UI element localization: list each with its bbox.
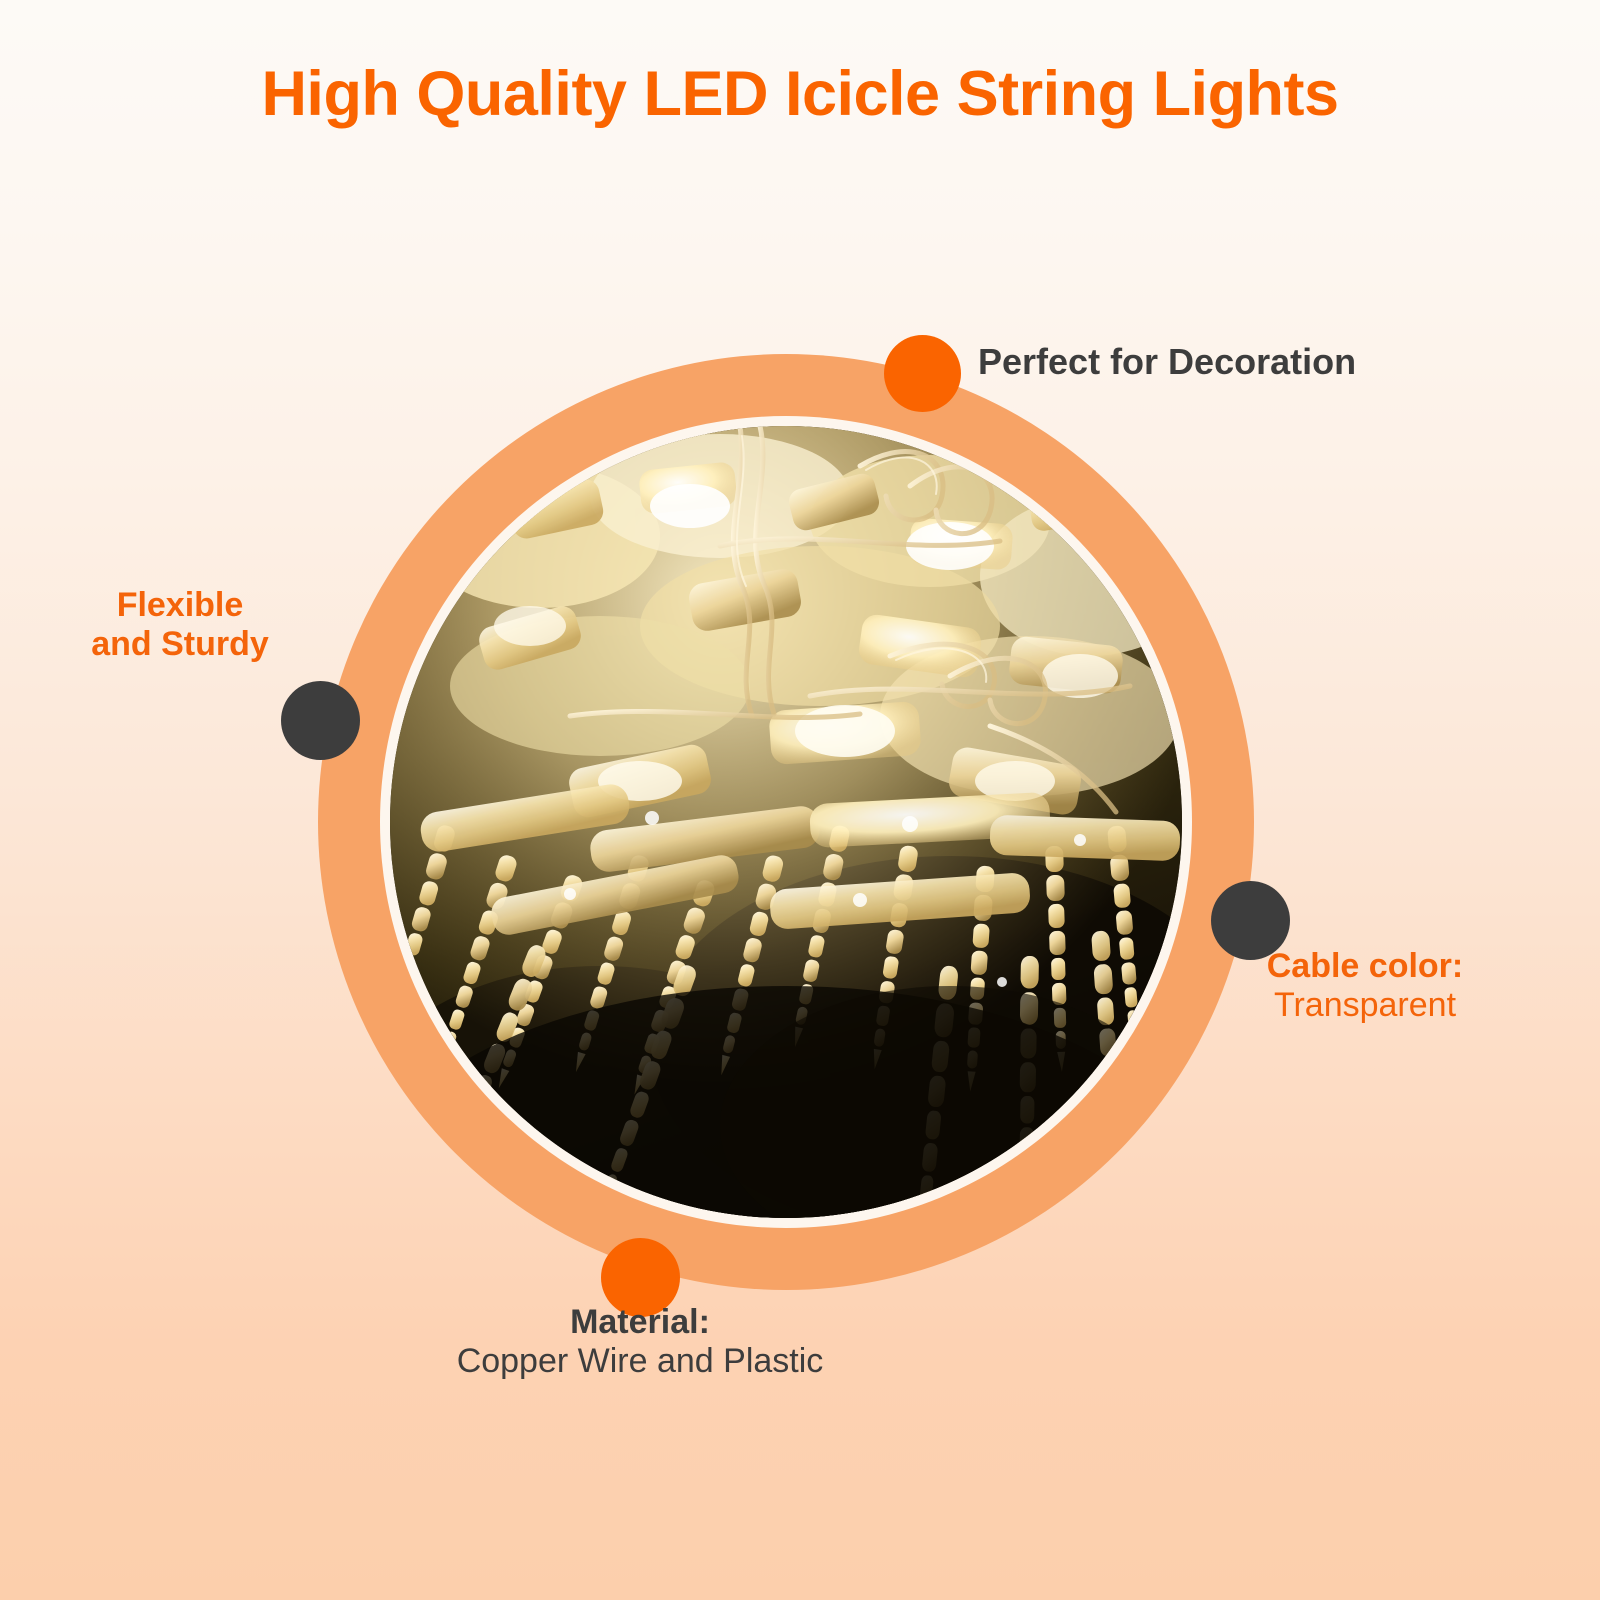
callout-material: Material: Copper Wire and Plastic	[390, 1303, 890, 1382]
callout-cable-color-line-1: Cable color:	[1145, 947, 1585, 986]
callout-flexible-line-1: Flexible	[30, 586, 330, 625]
callout-flexible: Flexible and Sturdy	[30, 586, 330, 665]
callout-cable-color: Cable color: Transparent	[1145, 947, 1585, 1026]
product-circle	[318, 354, 1254, 1290]
page-title: High Quality LED Icicle String Lights	[0, 58, 1600, 130]
callout-flexible-line-2: and Sturdy	[30, 625, 330, 664]
callout-decoration-line-1: Perfect for Decoration	[978, 341, 1356, 383]
callout-dot-decoration[interactable]	[884, 335, 961, 412]
callout-dot-flexible[interactable]	[281, 681, 360, 760]
callout-material-line-1: Material:	[390, 1303, 890, 1342]
callout-cable-color-line-2: Transparent	[1145, 986, 1585, 1025]
callout-decoration: Perfect for Decoration	[978, 341, 1356, 383]
product-photo	[390, 426, 1182, 1218]
callout-material-line-2: Copper Wire and Plastic	[390, 1342, 890, 1381]
